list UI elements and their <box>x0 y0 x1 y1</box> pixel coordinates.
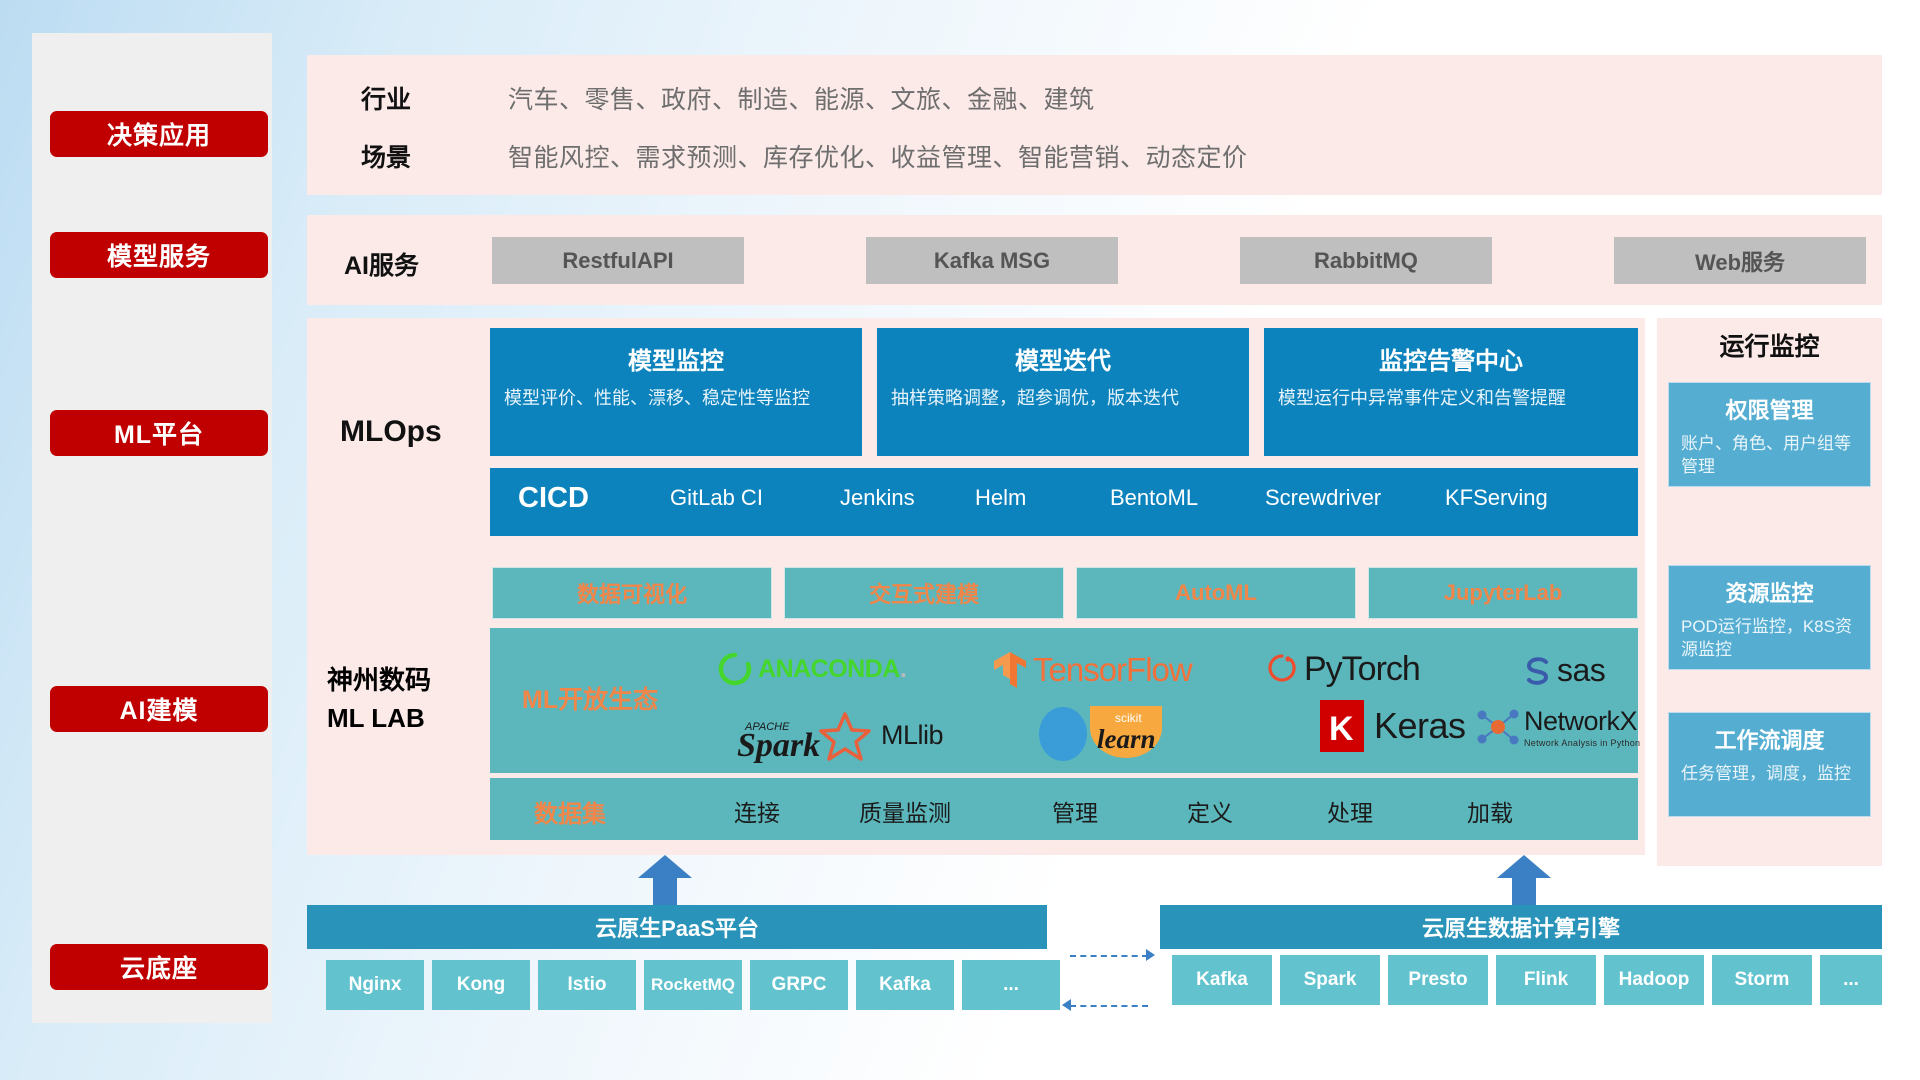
svg-text:learn: learn <box>1097 724 1156 754</box>
monitor-card-title: 权限管理 <box>1669 393 1870 425</box>
cloud-chip-label: Kafka <box>879 975 931 996</box>
anaconda-icon <box>718 652 752 686</box>
rail-item-model-service[interactable]: 模型服务 <box>50 232 268 278</box>
sas-wordmark: sas <box>1557 652 1605 689</box>
dataset-item-connect[interactable]: 连接 <box>702 794 812 828</box>
cloud-chip-label: Kafka <box>1196 970 1248 991</box>
dataset-label: 数据集 <box>534 794 606 829</box>
rail-label: AI建模 <box>119 691 198 727</box>
mlops-card-model-monitor[interactable]: 模型监控 模型评价、性能、漂移、稳定性等监控 <box>490 328 862 456</box>
dashed-arrow-left-head <box>1062 999 1071 1011</box>
service-chip-restfulapi[interactable]: RestfulAPI <box>492 237 744 284</box>
scikit-learn-icon: scikit learn <box>1035 700 1185 762</box>
tensorflow-logo: TensorFlow <box>992 650 1192 690</box>
mllib-wordmark: MLlib <box>881 720 943 751</box>
dashed-arrow-right-head <box>1146 949 1155 961</box>
dataset-item-define[interactable]: 定义 <box>1155 794 1265 828</box>
engine-chip-kafka[interactable]: Kafka <box>1172 955 1272 1005</box>
dataset-item-manage[interactable]: 管理 <box>1020 794 1130 828</box>
networkx-tagline: Network Analysis in Python <box>1524 738 1640 748</box>
cloud-chip-label: GRPC <box>772 975 827 996</box>
dataset-item-quality[interactable]: 质量监测 <box>850 794 960 828</box>
networkx-icon <box>1472 705 1520 751</box>
cicd-item-kfserving[interactable]: KFServing <box>1445 484 1565 513</box>
cicd-item-screwdriver[interactable]: Screwdriver <box>1265 484 1385 513</box>
mlops-card-title: 模型迭代 <box>877 341 1249 376</box>
mllab-tag-line2: ML LAB <box>327 703 425 735</box>
cicd-item-bentoml[interactable]: BentoML <box>1110 484 1230 513</box>
monitor-card-title: 资源监控 <box>1669 576 1870 608</box>
sas-icon <box>1521 654 1555 688</box>
rail-label: ML平台 <box>114 415 204 451</box>
svg-text:scikit: scikit <box>1115 711 1142 725</box>
monitor-card-title: 工作流调度 <box>1669 723 1870 755</box>
cloud-chip-kafka[interactable]: Kafka <box>856 960 954 1010</box>
service-chip-label: RabbitMQ <box>1314 248 1418 274</box>
mllab-tag-line1: 神州数码 <box>327 665 431 697</box>
svg-text:K: K <box>1329 710 1354 748</box>
cicd-item-helm[interactable]: Helm <box>975 484 1095 513</box>
cloud-chip-label: Storm <box>1735 970 1790 991</box>
ai-service-tag: AI服务 <box>344 246 419 282</box>
dataset-row: 数据集 连接 质量监测 管理 定义 处理 加载 <box>490 778 1638 840</box>
cloud-chip-istio[interactable]: Istio <box>538 960 636 1010</box>
cloud-chip-label: Flink <box>1524 970 1568 991</box>
rail-item-ml-platform[interactable]: ML平台 <box>50 410 268 456</box>
tab-label: JupyterLab <box>1444 580 1563 606</box>
mlops-card-desc: 模型运行中异常事件定义和告警提醒 <box>1278 386 1624 410</box>
service-chip-label: Kafka MSG <box>934 248 1050 274</box>
spark-mllib-logo: APACHE Spark MLlib <box>737 706 943 764</box>
dataset-item-process[interactable]: 处理 <box>1295 794 1405 828</box>
left-rail <box>32 33 272 1023</box>
tab-label: 交互式建模 <box>869 577 979 609</box>
cloud-chip-more-left[interactable]: ... <box>962 960 1060 1010</box>
ecosystem-label: ML开放生态 <box>522 680 658 716</box>
tab-interactive-modeling[interactable]: 交互式建模 <box>784 567 1064 619</box>
cloud-chip-label: Kong <box>457 975 506 996</box>
monitor-title: 运行监控 <box>1657 327 1882 363</box>
cloud-chip-label: ... <box>1003 975 1019 996</box>
monitor-card-desc: 任务管理，调度，监控 <box>1681 763 1858 786</box>
anaconda-wordmark: ANACONDA <box>758 655 900 684</box>
pytorch-logo: PyTorch <box>1266 650 1420 689</box>
engine-chip-hadoop[interactable]: Hadoop <box>1604 955 1704 1005</box>
tab-label: AutoML <box>1175 580 1257 606</box>
scenario-tag: 场景 <box>361 138 411 174</box>
decision-layer-panel <box>307 55 1882 195</box>
cicd-row: CICD GitLab CI Jenkins Helm BentoML Scre… <box>490 468 1638 536</box>
service-chip-label: RestfulAPI <box>562 248 673 274</box>
engine-chip-more-right[interactable]: ... <box>1820 955 1882 1005</box>
sas-logo: sas <box>1521 652 1605 689</box>
cloud-chip-label: Hadoop <box>1619 970 1690 991</box>
svg-text:Spark: Spark <box>737 727 820 764</box>
mlops-card-desc: 抽样策略调整，超参调优，版本迭代 <box>891 386 1235 410</box>
data-engine-bar: 云原生数据计算引擎 <box>1160 905 1882 949</box>
cloud-chip-kong[interactable]: Kong <box>432 960 530 1010</box>
tab-data-visualization[interactable]: 数据可视化 <box>492 567 772 619</box>
rail-label: 模型服务 <box>107 237 211 273</box>
cicd-title: CICD <box>518 482 589 515</box>
mlops-tag: MLOps <box>340 415 442 449</box>
tab-label: 数据可视化 <box>577 577 687 609</box>
cicd-item-jenkins[interactable]: Jenkins <box>840 484 960 513</box>
cloud-chip-label: Presto <box>1408 970 1467 991</box>
monitor-card-resource[interactable]: 资源监控 POD运行监控，K8S资源监控 <box>1668 565 1871 670</box>
mlops-card-desc: 模型评价、性能、漂移、稳定性等监控 <box>504 386 848 410</box>
rail-item-ai-modeling[interactable]: AI建模 <box>50 686 268 732</box>
networkx-logo: NetworkX Network Analysis in Python <box>1472 705 1640 751</box>
keras-wordmark: Keras <box>1374 705 1466 747</box>
tab-automl[interactable]: AutoML <box>1076 567 1356 619</box>
paas-bar: 云原生PaaS平台 <box>307 905 1047 949</box>
cloud-chip-grpc[interactable]: GRPC <box>750 960 848 1010</box>
paas-bar-label: 云原生PaaS平台 <box>595 911 759 943</box>
mlops-card-alert-center[interactable]: 监控告警中心 模型运行中异常事件定义和告警提醒 <box>1264 328 1638 456</box>
tab-jupyterlab[interactable]: JupyterLab <box>1368 567 1638 619</box>
cloud-chip-nginx[interactable]: Nginx <box>326 960 424 1010</box>
cloud-chip-rocketmq[interactable]: RocketMQ <box>644 960 742 1010</box>
pytorch-icon <box>1266 652 1298 688</box>
service-chip-web[interactable]: Web服务 <box>1614 237 1866 284</box>
engine-chip-presto[interactable]: Presto <box>1388 955 1488 1005</box>
networkx-wordmark: NetworkX <box>1524 708 1640 735</box>
architecture-diagram: 决策应用 模型服务 ML平台 AI建模 云底座 行业 汽车、零售、政府、制造、能… <box>0 0 1920 1080</box>
scenario-list: 智能风控、需求预测、库存优化、收益管理、智能营销、动态定价 <box>508 138 1248 174</box>
keras-icon: K <box>1320 700 1364 752</box>
engine-chip-storm[interactable]: Storm <box>1712 955 1812 1005</box>
spark-icon: APACHE Spark <box>737 706 887 764</box>
monitor-card-permission[interactable]: 权限管理 账户、角色、用户组等管理 <box>1668 382 1871 487</box>
service-chip-label: Web服务 <box>1695 245 1785 277</box>
cloud-chip-label: Istio <box>567 975 606 996</box>
engine-chip-spark[interactable]: Spark <box>1280 955 1380 1005</box>
engine-chip-flink[interactable]: Flink <box>1496 955 1596 1005</box>
cloud-chip-label: Spark <box>1304 970 1357 991</box>
cicd-item-gitlab-ci[interactable]: GitLab CI <box>670 484 790 513</box>
monitor-card-desc: POD运行监控，K8S资源监控 <box>1681 616 1858 662</box>
data-engine-bar-label: 云原生数据计算引擎 <box>1422 911 1620 943</box>
tensorflow-icon <box>992 650 1028 690</box>
service-chip-rabbitmq[interactable]: RabbitMQ <box>1240 237 1492 284</box>
rail-item-decision[interactable]: 决策应用 <box>50 111 268 157</box>
dataset-item-load[interactable]: 加载 <box>1435 794 1545 828</box>
rail-label: 决策应用 <box>107 116 211 152</box>
cloud-chip-label: RocketMQ <box>651 976 735 995</box>
cloud-chip-label: Nginx <box>349 975 402 996</box>
rail-label: 云底座 <box>120 949 198 985</box>
mlops-card-model-iteration[interactable]: 模型迭代 抽样策略调整，超参调优，版本迭代 <box>877 328 1249 456</box>
dashed-arrow-right <box>1070 955 1148 957</box>
keras-logo: K Keras <box>1320 700 1466 752</box>
tensorflow-wordmark: TensorFlow <box>1033 651 1192 689</box>
cloud-chip-label: ... <box>1843 970 1859 991</box>
pytorch-wordmark: PyTorch <box>1304 650 1420 689</box>
scikit-learn-logo: scikit learn <box>1035 700 1185 762</box>
industry-tag: 行业 <box>361 80 411 116</box>
dashed-arrow-left <box>1070 1005 1148 1007</box>
rail-item-cloud-base[interactable]: 云底座 <box>50 944 268 990</box>
mlops-card-title: 监控告警中心 <box>1264 341 1638 376</box>
mlops-card-title: 模型监控 <box>490 341 862 376</box>
industry-list: 汽车、零售、政府、制造、能源、文旅、金融、建筑 <box>508 80 1095 116</box>
service-chip-kafka-msg[interactable]: Kafka MSG <box>866 237 1118 284</box>
anaconda-logo: ANACONDA . <box>718 652 907 686</box>
monitor-card-desc: 账户、角色、用户组等管理 <box>1681 433 1858 479</box>
monitor-card-workflow[interactable]: 工作流调度 任务管理，调度，监控 <box>1668 712 1871 817</box>
